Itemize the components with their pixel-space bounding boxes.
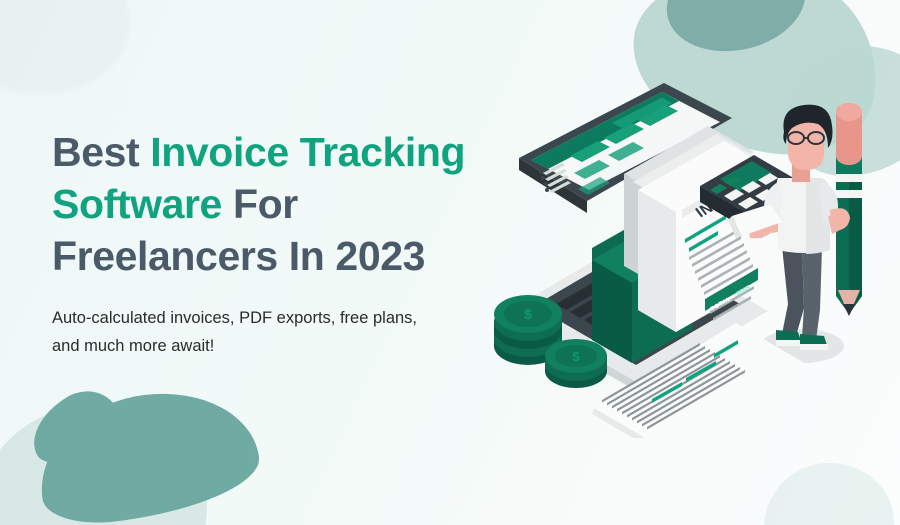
- decorative-blob-top-left: [0, 0, 130, 95]
- decorative-blob-bottom-right: [764, 463, 894, 525]
- invoice-page-left: [638, 190, 676, 332]
- pencil-band-white-1: [836, 174, 862, 182]
- headline-segment-accent-2: Software: [52, 181, 222, 227]
- headline-segment-plain-3: Freelancers In 2023: [52, 233, 425, 279]
- decorative-blob-bottom-left-dark: [31, 382, 264, 525]
- pencil-eraser-top: [836, 103, 862, 121]
- decorative-blob-bottom-left-light: [0, 406, 207, 525]
- page-title: Best Invoice TrackingSoftware ForFreelan…: [52, 126, 522, 282]
- hero-subtitle: Auto-calculated invoices, PDF exports, f…: [52, 304, 432, 360]
- coin-symbol: $: [524, 306, 532, 322]
- headline-segment-accent-1: Invoice Tracking: [150, 129, 465, 175]
- hero-copy: Best Invoice TrackingSoftware ForFreelan…: [52, 126, 522, 360]
- hero-illustration: INVOICE: [486, 78, 900, 438]
- pencil-band-white-2: [836, 190, 862, 198]
- coin-symbol: $: [572, 349, 580, 364]
- coin-stack-short: $: [545, 339, 607, 388]
- hero-banner: Best Invoice TrackingSoftware ForFreelan…: [0, 0, 900, 525]
- person-leg-front: [802, 246, 822, 340]
- headline-segment-plain-2: For: [222, 181, 298, 227]
- headline-segment-plain-1: Best: [52, 129, 150, 175]
- person-leg-back: [782, 246, 804, 336]
- pencil-tip: [843, 304, 855, 316]
- decorative-blob-top-right-dark: [658, 0, 815, 64]
